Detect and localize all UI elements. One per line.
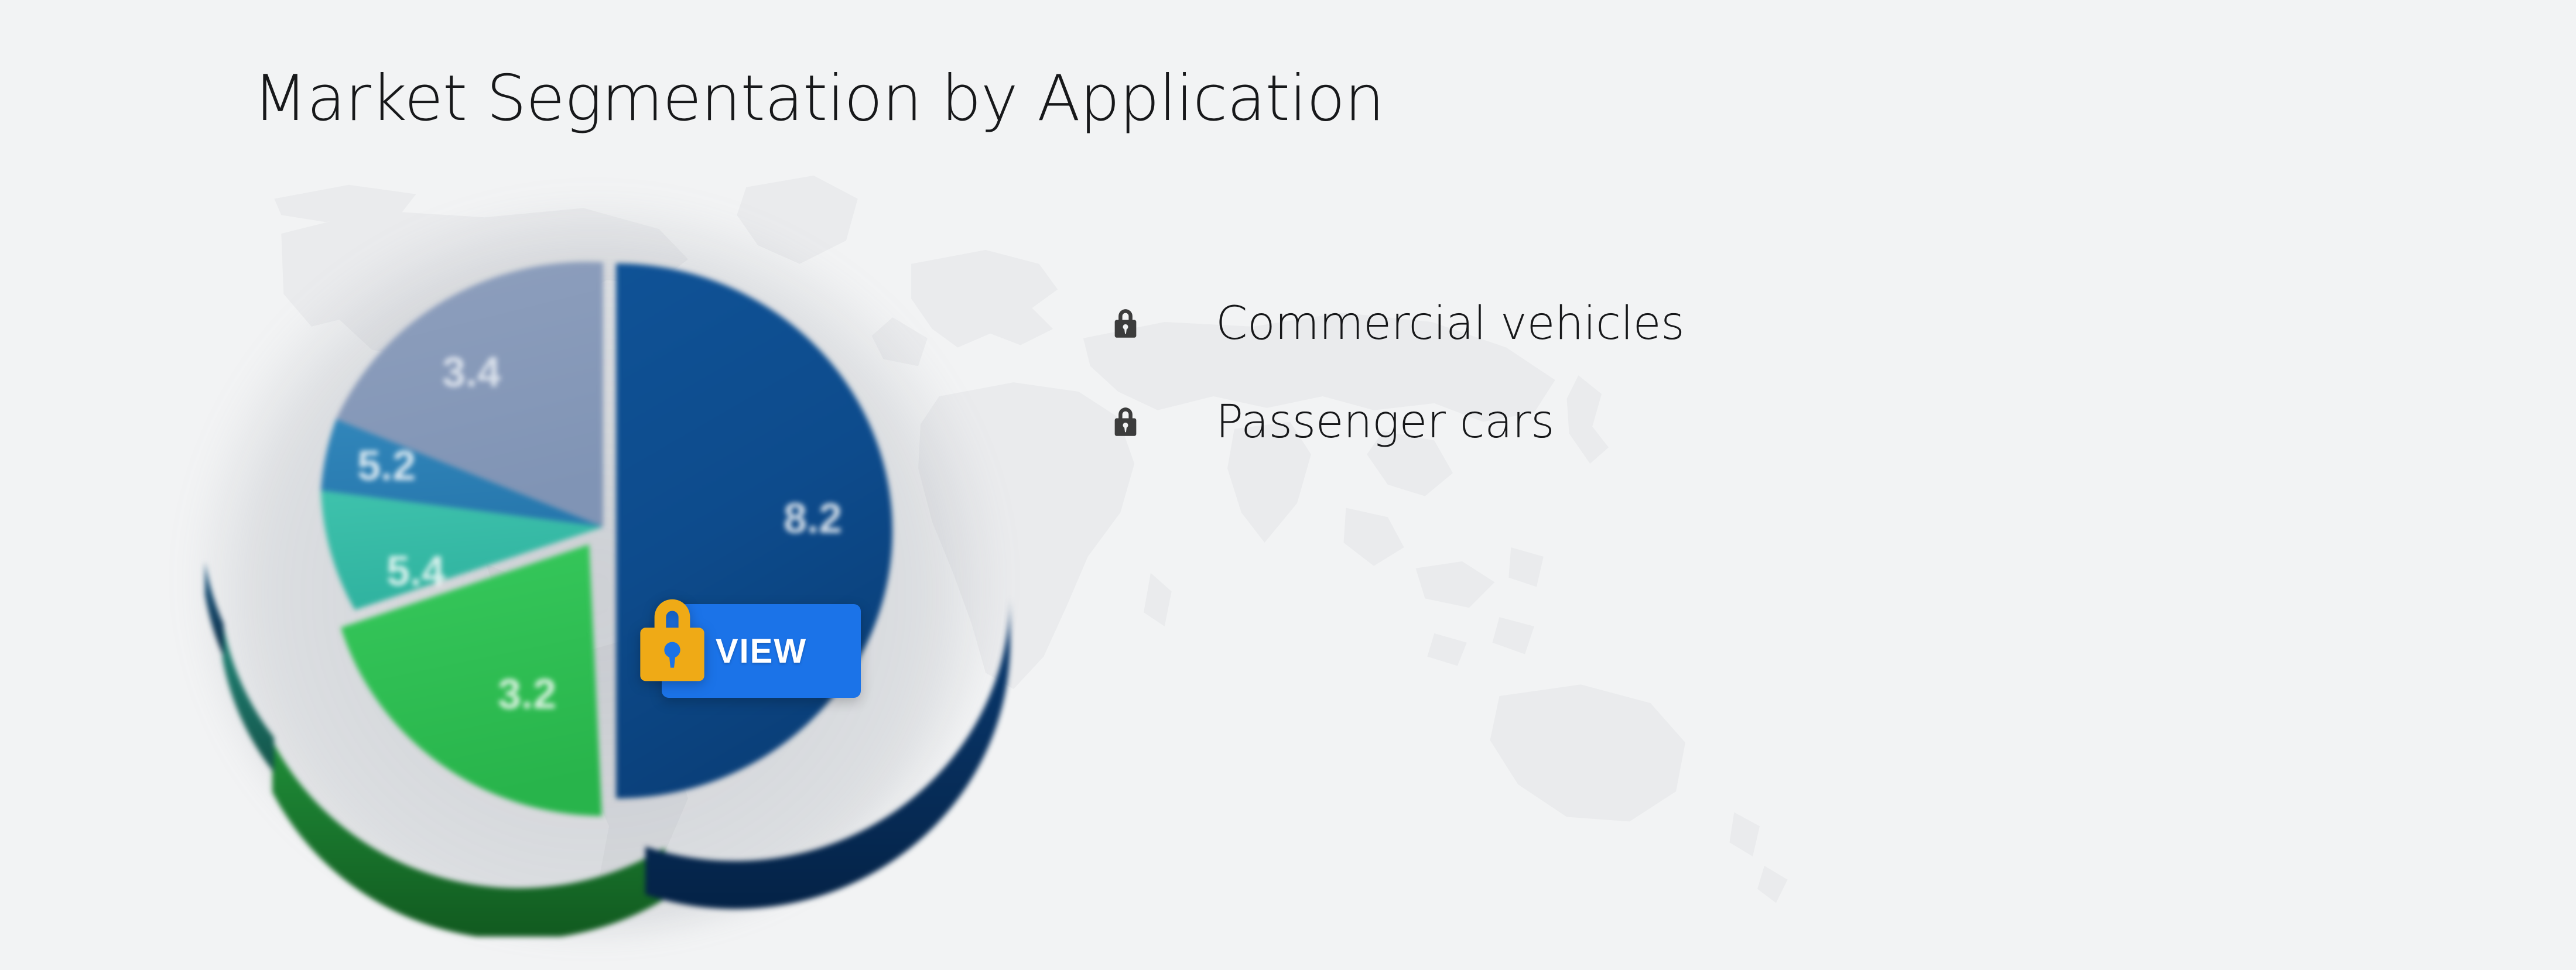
legend-item-commercial-vehicles[interactable]: Commercial vehicles bbox=[1111, 297, 1684, 350]
pie-side-segment-c bbox=[223, 621, 274, 773]
chart-canvas: Market Segmentation by Application bbox=[0, 0, 2576, 970]
pie-chart: 8.2 3.4 5.2 5.4 3.2 VIEW bbox=[135, 152, 1072, 937]
pie-label-segment-d: 5.2 bbox=[357, 443, 416, 489]
pie-side-segment-d bbox=[205, 562, 224, 657]
pie-slice-segment-a bbox=[616, 263, 892, 798]
legend-item-label: Commercial vehicles bbox=[1216, 297, 1684, 350]
lock-icon bbox=[1111, 406, 1140, 438]
lock-icon bbox=[1111, 308, 1140, 340]
pie-label-segment-c: 5.4 bbox=[386, 548, 445, 595]
view-button-label: VIEW bbox=[716, 632, 807, 671]
legend: Commercial vehicles Passenger cars bbox=[1111, 297, 1684, 448]
legend-item-label: Passenger cars bbox=[1216, 396, 1554, 448]
pie-label-segment-b: 3.2 bbox=[498, 671, 556, 718]
page-title: Market Segmentation by Application bbox=[253, 66, 1384, 132]
pie-chart-svg: 8.2 3.4 5.2 5.4 3.2 bbox=[135, 152, 1072, 937]
legend-item-passenger-cars[interactable]: Passenger cars bbox=[1111, 396, 1684, 448]
lock-icon bbox=[628, 588, 717, 687]
view-overlay: VIEW bbox=[628, 588, 862, 702]
pie-label-segment-e: 3.4 bbox=[442, 349, 501, 396]
pie-label-segment-a: 8.2 bbox=[784, 495, 842, 542]
